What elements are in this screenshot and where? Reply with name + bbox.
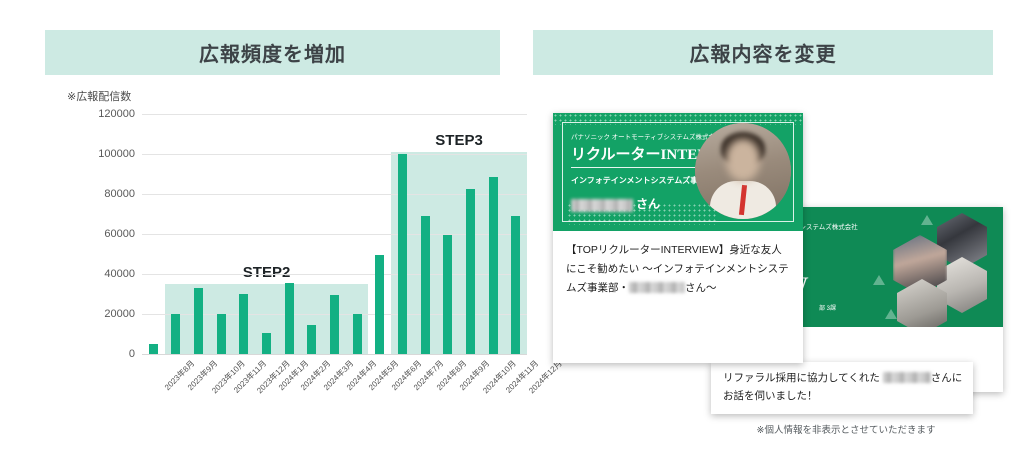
- referral-caption-before: リファラル採用に協力してくれた: [723, 372, 880, 384]
- step-band-step3: [391, 152, 527, 354]
- interview-card-caption-tail: さん〜: [685, 282, 717, 294]
- y-axis-tick: 40000: [104, 268, 135, 280]
- recruiter-interview-card[interactable]: パナソニック オートモーティブシステムズ株式会社 リクルーターINTERVIEW…: [553, 113, 803, 363]
- referral-caption-card[interactable]: リファラル採用に協力してくれた さんにお話を伺いました！: [711, 362, 973, 414]
- bar-2024年12月: [511, 216, 520, 354]
- triangle-accent-3: [885, 309, 897, 319]
- gridline-0: [142, 354, 527, 355]
- step-label-step2: STEP2: [243, 264, 291, 281]
- privacy-note: ※個人情報を非表示とさせていただきます: [715, 422, 977, 436]
- bar-2024年8月: [421, 216, 430, 354]
- chart-x-axis: 2023年8月2023年9月2023年10月2023年11月2023年12月20…: [142, 358, 527, 428]
- step-label-step3: STEP3: [435, 132, 483, 149]
- left-panel-title: 広報頻度を増加: [45, 30, 500, 75]
- hex-photo-grid: [863, 213, 999, 325]
- referral-caption-text: リファラル採用に協力してくれた さんにお話を伺いました！: [723, 370, 963, 406]
- bar-2023年12月: [239, 294, 248, 354]
- bar-2024年5月: [353, 314, 362, 354]
- right-panel-title: 広報内容を変更: [533, 30, 993, 75]
- y-axis-tick: 20000: [104, 308, 135, 320]
- bar-2024年6月: [375, 255, 384, 354]
- gridline-100000: [142, 154, 527, 155]
- redacted-name-badge-bottom: [883, 372, 931, 383]
- interview-card-banner: パナソニック オートモーティブシステムズ株式会社 リクルーターINTERVIEW…: [553, 113, 803, 231]
- chart-axis-note: ※広報配信数: [67, 88, 131, 104]
- interview-card-person: さん: [571, 195, 660, 212]
- referral-card-dept: 部 3課: [819, 303, 836, 312]
- redacted-name-badge-interview: [571, 199, 633, 212]
- y-axis-tick: 100000: [98, 148, 135, 160]
- portrait-face-blurred: [726, 139, 760, 181]
- interview-card-person-suffix: さん: [636, 195, 660, 212]
- bar-2023年11月: [217, 314, 226, 354]
- bar-2024年7月: [398, 154, 407, 354]
- y-axis-tick: 60000: [104, 228, 135, 240]
- bar-2024年11月: [489, 177, 498, 354]
- bar-2023年10月: [194, 288, 203, 354]
- bar-2023年9月: [171, 314, 180, 354]
- bar-2023年8月: [149, 344, 158, 354]
- interview-card-portrait: [695, 123, 791, 219]
- chart-plot-area: STEP2STEP3020000400006000080000100000120…: [142, 114, 527, 354]
- interview-card-caption: 【TOPリクルーターINTERVIEW】身近な友人にこそ勧めたい 〜インフォテイ…: [566, 241, 792, 298]
- bar-2024年10月: [466, 189, 475, 354]
- right-panel-title-text: 広報内容を変更: [690, 38, 837, 67]
- slide-root: 広報頻度を増加 広報内容を変更 ※広報配信数 STEP2STEP30200004…: [0, 0, 1024, 460]
- bar-chart: ※広報配信数 STEP2STEP302000040000600008000010…: [45, 88, 515, 433]
- y-axis-tick: 0: [129, 348, 135, 360]
- media-cluster: ブシステムズ株式会社 al ew 部 3課: [533, 95, 1003, 450]
- triangle-accent-1: [921, 215, 933, 225]
- y-axis-tick: 80000: [104, 188, 135, 200]
- bar-2024年4月: [330, 295, 339, 354]
- redacted-name-badge-caption: [629, 282, 685, 293]
- bar-2024年2月: [285, 283, 294, 354]
- y-axis-tick: 120000: [98, 108, 135, 120]
- bar-2024年1月: [262, 333, 271, 354]
- gridline-120000: [142, 114, 527, 115]
- triangle-accent-2: [873, 275, 885, 285]
- left-panel-title-text: 広報頻度を増加: [199, 38, 346, 67]
- referral-card-banner: ブシステムズ株式会社 al ew 部 3課: [785, 207, 1003, 327]
- interview-card-dept: インフォテインメントシステムズ事業部: [571, 175, 714, 186]
- bar-2024年9月: [443, 235, 452, 354]
- bar-2024年3月: [307, 325, 316, 354]
